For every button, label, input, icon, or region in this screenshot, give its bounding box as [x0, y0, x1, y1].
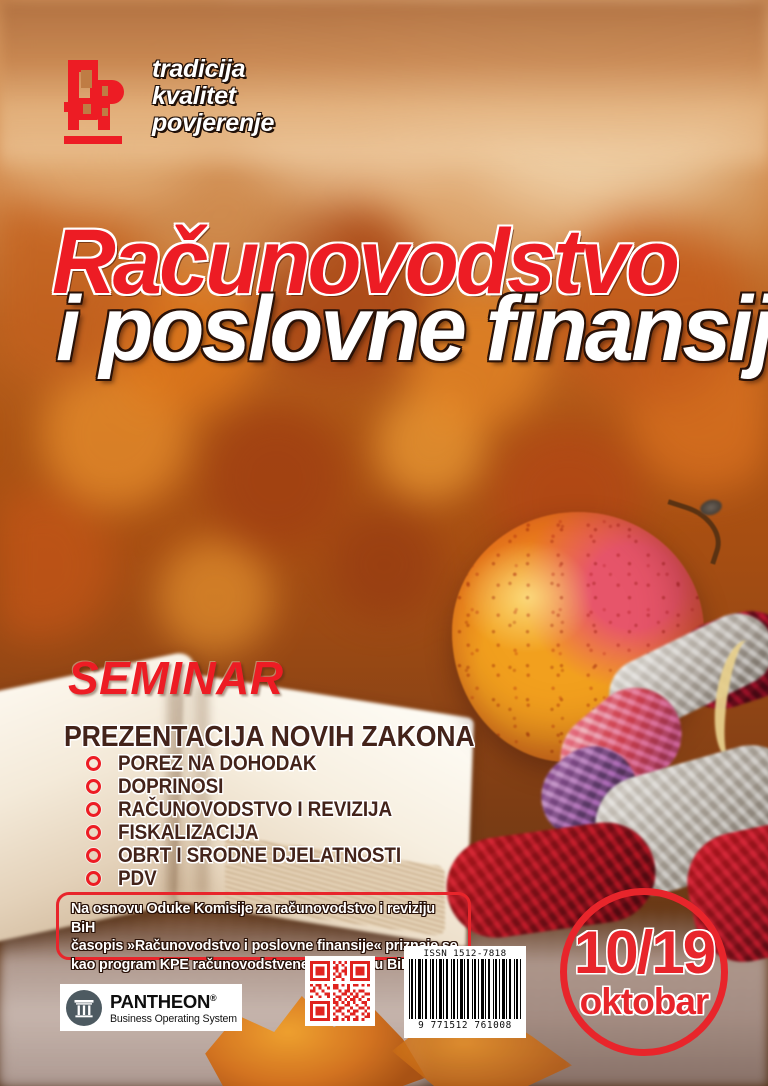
- issn-label: ISSN 1512-7818: [409, 948, 521, 959]
- topic-label: FISKALIZACIJA: [118, 822, 259, 843]
- topic-label: RAČUNOVODSTVO I REVIZIJA: [118, 799, 392, 820]
- sponsor-logo-pantheon[interactable]: PANTHEON® Business Operating System: [60, 984, 242, 1031]
- circle-outline-icon: [86, 825, 101, 840]
- circle-outline-icon: [86, 779, 101, 794]
- seminar-topic-list: POREZ NA DOHODAK DOPRINOSI RAČUNOVODSTVO…: [86, 752, 506, 890]
- barcode-number: 9 771512 761008: [409, 1020, 521, 1032]
- masthead-title-line-2: i poslovne finansije: [56, 283, 768, 375]
- list-item: OBRT I SRODNE DJELATNOSTI: [86, 844, 506, 867]
- registered-mark: ®: [210, 993, 216, 1003]
- list-item: POREZ NA DOHODAK: [86, 752, 506, 775]
- issue-number: 10/19: [574, 925, 714, 981]
- issue-month: oktobar: [580, 983, 709, 1020]
- sponsor-tagline: Business Operating System: [110, 1013, 237, 1026]
- topic-label: PDV: [118, 868, 157, 889]
- topic-label: DOPRINOSI: [118, 776, 223, 797]
- notice-line-2: časopis »Računovodstvo i poslovne finans…: [71, 937, 458, 956]
- circle-outline-icon: [86, 802, 101, 817]
- sponsor-name-text: PANTHEON: [110, 991, 210, 1012]
- topic-label: POREZ NA DOHODAK: [118, 753, 316, 774]
- seminar-heading: PREZENTACIJA NOVIH ZAKONA: [64, 723, 474, 752]
- seminar-kicker: SEMINAR: [68, 655, 284, 701]
- circle-outline-icon: [86, 848, 101, 863]
- sponsor-name: PANTHEON®: [110, 989, 237, 1012]
- masthead: Računovodstvo i poslovne finansije: [0, 0, 768, 380]
- qr-code-icon[interactable]: [305, 956, 375, 1026]
- sponsor-wordmark: PANTHEON® Business Operating System: [110, 989, 237, 1026]
- notice-line-3: kao program KPE računovodstvene profesij…: [71, 956, 458, 975]
- barcode-bars: [409, 959, 521, 1019]
- barcode-icon: ISSN 1512-7818 9 771512 761008: [404, 946, 526, 1038]
- topic-label: OBRT I SRODNE DJELATNOSTI: [118, 845, 401, 866]
- list-item: FISKALIZACIJA: [86, 821, 506, 844]
- notice-line-1: Na osnovu Oduke Komisije za računovodstv…: [71, 900, 458, 937]
- circle-outline-icon: [86, 871, 101, 886]
- list-item: DOPRINOSI: [86, 775, 506, 798]
- circle-outline-icon: [86, 756, 101, 771]
- list-item: RAČUNOVODSTVO I REVIZIJA: [86, 798, 506, 821]
- greek-temple-column-icon: [66, 990, 102, 1026]
- issue-date-badge: 10/19 oktobar: [560, 888, 728, 1056]
- list-item: PDV: [86, 867, 506, 890]
- magazine-cover: tradicija kvalitet povjerenje Računovods…: [0, 0, 768, 1086]
